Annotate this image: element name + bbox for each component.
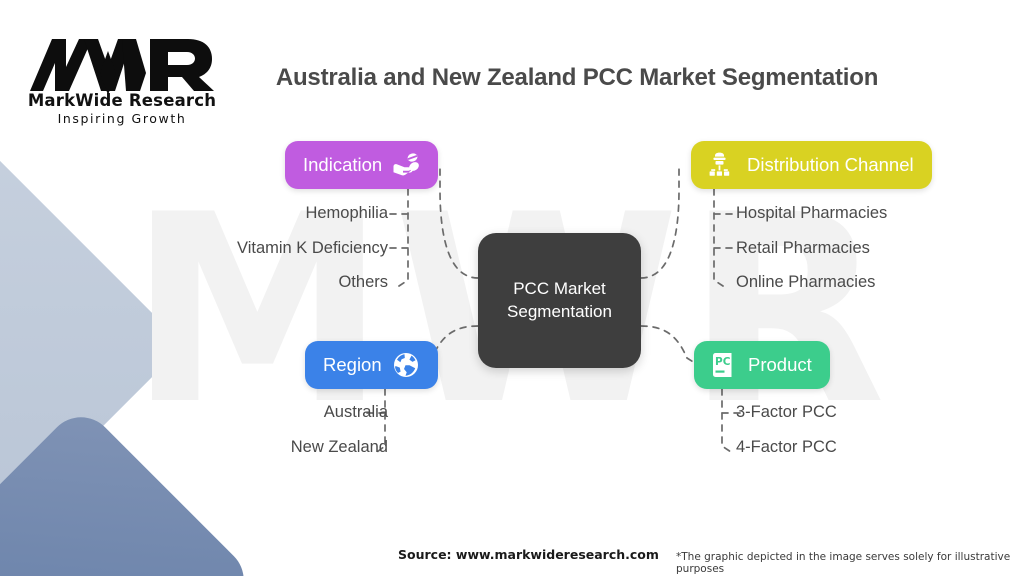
leaf-list-product: 3-Factor PCC 4-Factor PCC xyxy=(736,404,1006,473)
connector-center-distribution xyxy=(641,166,679,278)
connector-spine-distribution xyxy=(714,189,723,286)
branch-label-indication: Indication xyxy=(303,156,382,175)
logo-company-name: MarkWide Research xyxy=(22,91,222,110)
branch-pill-indication[interactable]: Indication xyxy=(285,141,438,189)
connector-spine-indication xyxy=(399,189,408,286)
pc-badge-icon: PC xyxy=(712,352,738,378)
source-text: Source: www.markwideresearch.com xyxy=(398,547,659,562)
logo-tagline: Inspiring Growth xyxy=(22,111,222,126)
leaf-item: Australia xyxy=(324,404,388,421)
leaf-list-region: Australia New Zealand xyxy=(120,404,388,473)
branch-pill-product[interactable]: PC Product xyxy=(694,341,830,389)
globe-icon xyxy=(392,351,420,379)
infographic-canvas: MWR MarkWide Research Inspiring Growth A… xyxy=(0,0,1024,576)
center-node-line2: Segmentation xyxy=(507,302,612,321)
leaf-item: Others xyxy=(338,274,388,291)
decorative-square-light xyxy=(0,133,184,557)
leaf-list-distribution: Hospital Pharmacies Retail Pharmacies On… xyxy=(736,205,1006,309)
page-title: Australia and New Zealand PCC Market Seg… xyxy=(0,64,1024,92)
leaf-item: New Zealand xyxy=(291,439,388,456)
branch-label-product: Product xyxy=(748,356,812,375)
leaf-item: Hospital Pharmacies xyxy=(736,205,887,222)
svg-text:PC: PC xyxy=(715,356,731,368)
leaf-item: 3-Factor PCC xyxy=(736,404,837,421)
distribution-network-icon xyxy=(709,152,737,178)
center-node: PCC Market Segmentation xyxy=(478,233,641,368)
disclaimer-text: *The graphic depicted in the image serve… xyxy=(676,551,1024,575)
branch-label-region: Region xyxy=(323,356,382,375)
leaf-item: Vitamin K Deficiency xyxy=(237,240,388,257)
branch-pill-distribution[interactable]: Distribution Channel xyxy=(691,141,932,189)
leaf-item: Hemophilia xyxy=(305,205,388,222)
connector-center-product xyxy=(641,326,698,365)
leaf-list-indication: Hemophilia Vitamin K Deficiency Others xyxy=(120,205,388,309)
connector-spine-product xyxy=(722,389,731,452)
leaf-item: Online Pharmacies xyxy=(736,274,875,291)
connector-center-indication xyxy=(440,166,478,278)
leaf-item: Retail Pharmacies xyxy=(736,240,870,257)
branch-label-distribution: Distribution Channel xyxy=(747,156,914,175)
hand-holding-pills-icon xyxy=(392,152,420,178)
branch-pill-region[interactable]: Region xyxy=(305,341,438,389)
leaf-item: 4-Factor PCC xyxy=(736,439,837,456)
center-node-line1: PCC Market xyxy=(513,279,606,298)
